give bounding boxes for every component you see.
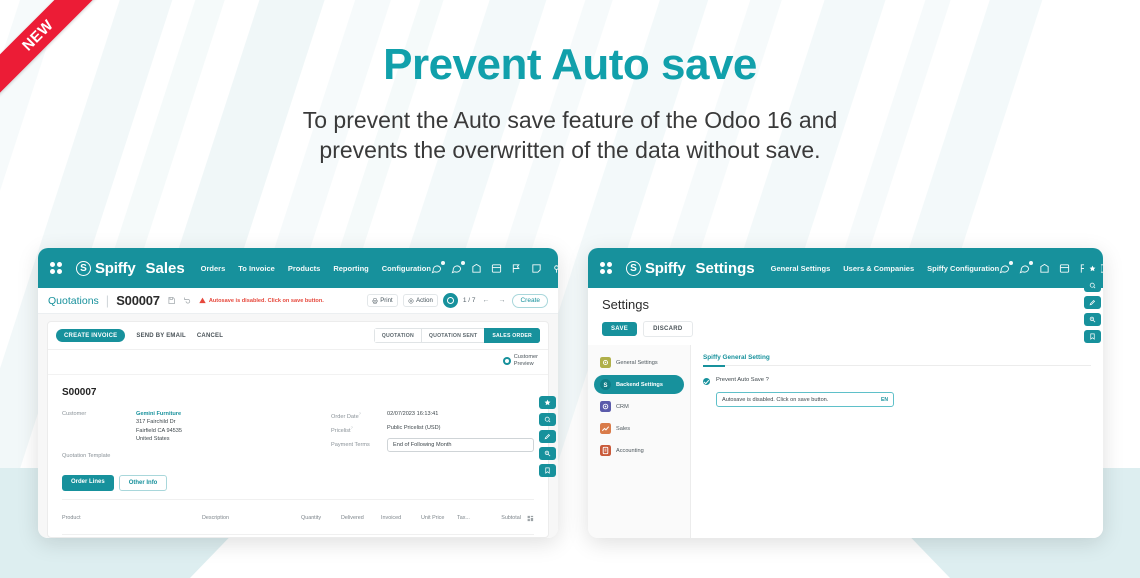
settings-sidebar: General Settings S Backend Settings CRM — [588, 345, 691, 538]
flag-icon[interactable] — [511, 263, 522, 274]
column-product: Product — [62, 515, 202, 521]
form-column-right: Order Date? 02/07/2023 16:13:41 Pricelis… — [331, 410, 534, 463]
nav-menu: Orders To Invoice Products Reporting Con… — [201, 264, 431, 273]
gear-icon — [408, 298, 414, 304]
bookmark-icon[interactable] — [539, 464, 556, 477]
statusbar: QUOTATION QUOTATION SENT SALES ORDER — [374, 328, 540, 343]
brand-name: Spiffy — [645, 260, 685, 277]
action-button[interactable]: Action — [403, 294, 438, 307]
bookmark-icon[interactable] — [1084, 330, 1101, 343]
print-label: Print — [380, 298, 392, 304]
sidebar-label: General Settings — [616, 360, 658, 366]
form-sheet: CREATE INVOICE SEND BY EMAIL CANCEL QUOT… — [47, 321, 549, 538]
navbar-icons — [431, 260, 558, 277]
app-name: Sales — [145, 260, 184, 277]
payment-terms-label: Payment Terms — [331, 441, 387, 448]
sidebar-item-backend-settings[interactable]: S Backend Settings — [594, 375, 684, 394]
tab-order-lines[interactable]: Order Lines — [62, 475, 114, 491]
zoom-icon[interactable] — [539, 447, 556, 460]
sales-screenshot-panel: Spiffy Sales Orders To Invoice Products … — [38, 248, 558, 538]
customer-preview-button[interactable]: Customer Preview — [503, 354, 538, 368]
apps-grid-icon[interactable] — [50, 262, 62, 274]
autosave-message-input[interactable] — [722, 397, 881, 403]
star-icon[interactable] — [1084, 262, 1101, 275]
sidebar-label: Backend Settings — [616, 382, 663, 388]
column-description: Description — [202, 515, 301, 521]
side-toolbar-left — [539, 396, 556, 477]
customer-preview-row: Customer Preview — [48, 350, 548, 375]
side-toolbar-right — [1084, 262, 1101, 343]
brand-name: Spiffy — [95, 260, 135, 277]
poster-stage: NEW Prevent Auto save To prevent the Aut… — [0, 0, 1140, 578]
order-date-label: Order Date? — [331, 410, 387, 420]
page-subtitle: To prevent the Auto save feature of the … — [0, 106, 1140, 166]
gear-icon[interactable] — [551, 263, 558, 274]
messages-secondary-icon[interactable] — [451, 263, 462, 274]
brand-logo[interactable]: Spiffy — [626, 260, 685, 277]
customer-value[interactable]: Gemini Furniture — [136, 411, 181, 417]
sales-icon — [600, 423, 611, 434]
notebook-tabs: Order Lines Other Info — [62, 475, 534, 491]
sidebar-item-sales[interactable]: Sales — [594, 419, 684, 438]
column-delivered: Delivered — [341, 515, 381, 521]
new-badge: NEW — [0, 0, 110, 110]
zoom-icon[interactable] — [1084, 313, 1101, 326]
messages-icon[interactable] — [999, 263, 1010, 274]
print-icon — [372, 298, 378, 304]
spiffy-logo-icon — [76, 261, 91, 276]
status-sales-order[interactable]: SALES ORDER — [484, 328, 540, 343]
page-title: Prevent Auto save — [0, 42, 1140, 88]
settings-actions: SAVE DISCARD — [602, 321, 1089, 337]
sales-navbar: Spiffy Sales Orders To Invoice Products … — [38, 248, 558, 288]
settings-navbar: Spiffy Settings General Settings Users &… — [588, 248, 1103, 288]
nav-item-users-companies[interactable]: Users & Companies — [843, 264, 914, 273]
sidebar-label: Accounting — [616, 448, 644, 454]
column-subtotal: Subtotal — [477, 515, 521, 521]
save-manually-icon[interactable] — [167, 296, 176, 305]
prevent-auto-save-label: Prevent Auto Save ? — [716, 377, 769, 383]
pager-previous-icon[interactable]: ← — [480, 297, 491, 304]
sidebar-item-general-settings[interactable]: General Settings — [594, 353, 684, 372]
nav-item-reporting[interactable]: Reporting — [333, 264, 368, 273]
status-quotation[interactable]: QUOTATION — [374, 328, 421, 343]
discard-changes-icon[interactable] — [183, 296, 192, 305]
messages-secondary-icon[interactable] — [1019, 263, 1030, 274]
activities-icon[interactable] — [471, 263, 482, 274]
field-customer: Customer Gemini Furniture 317 Fairchild … — [62, 410, 331, 444]
svg-text:S: S — [604, 383, 608, 389]
field-payment-terms: Payment Terms — [331, 438, 534, 452]
order-date-value: 02/07/2023 16:13:41 — [387, 410, 438, 420]
prevent-auto-save-checkbox[interactable] — [703, 378, 710, 385]
form-column-left: Customer Gemini Furniture 317 Fairchild … — [62, 410, 331, 463]
print-button[interactable]: Print — [367, 294, 398, 307]
headline-block: Prevent Auto save To prevent the Auto sa… — [0, 42, 1140, 166]
section-divider — [703, 365, 1091, 366]
column-options-icon[interactable] — [527, 509, 534, 527]
control-panel-actions: Print Action 1 / 7 ← → Create — [367, 293, 548, 308]
backend-settings-icon: S — [600, 379, 611, 390]
settings-main: Spiffy General Setting Prevent Auto Save… — [691, 345, 1103, 538]
customer-label: Customer — [62, 410, 136, 444]
form-sheet-wrapper: CREATE INVOICE SEND BY EMAIL CANCEL QUOT… — [38, 314, 558, 538]
autosave-message-field[interactable]: EN — [716, 392, 894, 407]
app-name: Settings — [695, 260, 754, 277]
nav-item-configuration[interactable]: Configuration — [382, 264, 431, 273]
create-invoice-button[interactable]: CREATE INVOICE — [56, 329, 125, 342]
autosave-warning-text: Autosave is disabled. Click on save butt… — [209, 298, 324, 304]
save-button[interactable]: SAVE — [602, 322, 637, 336]
payment-terms-input[interactable] — [387, 438, 534, 452]
spiffy-logo-icon — [626, 261, 641, 276]
order-lines-header: Product Description Quantity Delivered I… — [62, 499, 534, 535]
action-label: Action — [416, 298, 433, 304]
settings-body: General Settings S Backend Settings CRM — [588, 345, 1103, 538]
pager-next-icon[interactable]: → — [496, 297, 507, 304]
breadcrumb-separator: | — [106, 293, 109, 308]
nav-item-general-settings[interactable]: General Settings — [771, 264, 831, 273]
grid-icon[interactable] — [1059, 263, 1070, 274]
new-badge-label: NEW — [0, 0, 108, 105]
prevent-auto-save-setting: Prevent Auto Save ? — [703, 377, 1091, 385]
brand-logo[interactable]: Spiffy — [76, 260, 135, 277]
pager-count: 1 / 7 — [463, 297, 476, 304]
general-settings-icon — [600, 357, 611, 368]
edit-icon[interactable] — [539, 430, 556, 443]
tab-other-info[interactable]: Other Info — [119, 475, 168, 491]
autosave-warning: Autosave is disabled. Click on save butt… — [199, 297, 324, 304]
section-title: Spiffy General Setting — [703, 354, 1091, 365]
form-columns: Customer Gemini Furniture 317 Fairchild … — [62, 410, 534, 463]
nav-menu: General Settings Users & Companies Spiff… — [771, 264, 1000, 273]
apps-grid-icon[interactable] — [600, 262, 612, 274]
sidebar-label: CRM — [616, 404, 629, 410]
sidebar-item-accounting[interactable]: Accounting — [594, 441, 684, 460]
column-invoiced: Invoiced — [381, 515, 421, 521]
accounting-icon — [600, 445, 611, 456]
control-panel: Quotations | S00007 Autosave is disabled… — [38, 288, 558, 314]
nav-item-to-invoice[interactable]: To Invoice — [238, 264, 275, 273]
record-indicator-button[interactable] — [443, 293, 458, 308]
search-icon[interactable] — [539, 413, 556, 426]
settings-header: Settings SAVE DISCARD — [588, 288, 1103, 337]
nav-item-spiffy-configuration[interactable]: Spiffy Configuration — [927, 264, 999, 273]
sidebar-item-crm[interactable]: CRM — [594, 397, 684, 416]
breadcrumb-current: S00007 — [116, 293, 160, 308]
column-quantity: Quantity — [301, 515, 341, 521]
discard-button[interactable]: DISCARD — [643, 321, 692, 337]
form-body: S00007 Customer Gemini Furniture 317 Fai… — [48, 375, 548, 535]
field-pricelist: Pricelist? Public Pricelist (USD) — [331, 424, 534, 434]
customer-preview-label: Customer Preview — [514, 354, 538, 368]
record-title: S00007 — [62, 387, 534, 398]
edit-icon[interactable] — [1084, 296, 1101, 309]
customer-address-line-2: Fairfield CA 94535 — [136, 428, 182, 434]
cancel-button[interactable]: CANCEL — [197, 333, 223, 339]
messages-icon[interactable] — [431, 263, 442, 274]
breadcrumb-root[interactable]: Quotations — [48, 295, 99, 307]
column-tax: Tax... — [457, 515, 477, 521]
note-icon[interactable] — [531, 263, 542, 274]
settings-page-title: Settings — [602, 297, 1089, 312]
warning-triangle-icon — [199, 297, 206, 304]
status-quotation-sent[interactable]: QUOTATION SENT — [421, 328, 484, 343]
customer-address-line-3: United States — [136, 436, 170, 442]
column-unit-price: Unit Price — [421, 515, 457, 521]
subtitle-line-2: prevents the overwritten of the data wit… — [0, 136, 1140, 166]
pricelist-value: Public Pricelist (USD) — [387, 424, 440, 434]
customer-preview-icon — [503, 357, 511, 365]
quotation-template-label: Quotation Template — [62, 452, 136, 459]
customer-address-line-1: 317 Fairchild Dr — [136, 419, 175, 425]
pricelist-label: Pricelist? — [331, 424, 387, 434]
activities-icon[interactable] — [1039, 263, 1050, 274]
sidebar-label: Sales — [616, 426, 630, 432]
subtitle-line-1: To prevent the Auto save feature of the … — [0, 106, 1140, 136]
settings-screenshot-panel: Spiffy Settings General Settings Users &… — [588, 248, 1103, 538]
statusbar-row: CREATE INVOICE SEND BY EMAIL CANCEL QUOT… — [48, 322, 548, 350]
field-order-date: Order Date? 02/07/2023 16:13:41 — [331, 410, 534, 420]
create-button[interactable]: Create — [512, 294, 548, 308]
crm-icon — [600, 401, 611, 412]
nav-item-products[interactable]: Products — [288, 264, 321, 273]
language-badge[interactable]: EN — [881, 397, 888, 403]
search-icon[interactable] — [1084, 279, 1101, 292]
field-quotation-template: Quotation Template — [62, 452, 331, 459]
nav-item-orders[interactable]: Orders — [201, 264, 226, 273]
send-by-email-button[interactable]: SEND BY EMAIL — [136, 333, 186, 339]
star-icon[interactable] — [539, 396, 556, 409]
grid-icon[interactable] — [491, 263, 502, 274]
